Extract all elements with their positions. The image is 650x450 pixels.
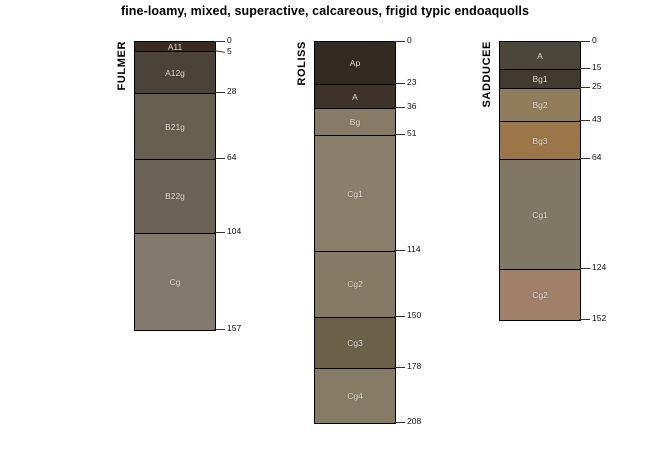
page-title: fine-loamy, mixed, superactive, calcareo…: [0, 4, 650, 18]
horizon-label: Bg2: [532, 100, 547, 110]
horizon-roliss-cg3[interactable]: Cg3: [315, 317, 395, 368]
depth-tick-label: 25: [592, 81, 601, 91]
depth-tick-line: [394, 107, 405, 108]
soil-column-sadducee[interactable]: ABg1Bg2Bg3Cg1Cg2: [499, 41, 581, 321]
horizon-label: B21g: [165, 122, 185, 132]
depth-tick-line: [214, 92, 225, 93]
horizon-roliss-cg2[interactable]: Cg2: [315, 251, 395, 317]
horizon-sadducee-cg2[interactable]: Cg2: [500, 269, 580, 320]
column-label-roliss: ROLISS: [296, 41, 308, 86]
horizon-label: Bg3: [532, 136, 547, 146]
horizon-sadducee-bg3[interactable]: Bg3: [500, 121, 580, 159]
horizon-label: Cg: [170, 277, 181, 287]
depth-tick-label: 0: [592, 35, 597, 45]
horizon-label: Cg2: [347, 279, 363, 289]
depth-tick-label: 43: [592, 114, 601, 124]
horizon-sadducee-a[interactable]: A: [500, 42, 580, 69]
horizon-fulmer-a12g[interactable]: A12g: [135, 51, 215, 93]
depth-tick-line: [579, 268, 590, 269]
depth-tick-line: [579, 120, 590, 121]
depth-tick-line: [394, 316, 405, 317]
horizon-label: A11: [168, 42, 183, 52]
depth-tick-label: 51: [407, 128, 416, 138]
depth-tick-label: 15: [592, 62, 601, 72]
depth-tick-line: [394, 367, 405, 368]
horizon-fulmer-a11[interactable]: A11: [135, 42, 215, 51]
depth-tick-label: 157: [227, 323, 241, 333]
depth-tick-line: [579, 319, 590, 320]
horizon-roliss-cg4[interactable]: Cg4: [315, 368, 395, 423]
depth-tick-label: 124: [592, 262, 606, 272]
horizon-label: Cg3: [347, 338, 363, 348]
column-label-sadducee: SADDUCEE: [481, 41, 493, 108]
depth-tick-label: 0: [227, 35, 232, 45]
depth-tick-label: 28: [227, 86, 236, 96]
depth-tick-line: [394, 41, 405, 42]
depth-tick-line: [579, 41, 590, 42]
soil-column-roliss[interactable]: ApABgCg1Cg2Cg3Cg4: [314, 41, 396, 424]
horizon-roliss-cg1[interactable]: Cg1: [315, 135, 395, 250]
depth-tick-label: 64: [227, 152, 236, 162]
column-label-fulmer: FULMER: [116, 41, 128, 90]
horizon-label: Ap: [350, 58, 360, 68]
depth-tick-label: 152: [592, 313, 606, 323]
depth-tick-line: [394, 134, 405, 135]
depth-tick-label: 150: [407, 310, 421, 320]
horizon-fulmer-b22g[interactable]: B22g: [135, 159, 215, 232]
horizon-sadducee-bg2[interactable]: Bg2: [500, 88, 580, 121]
horizon-label: B22g: [165, 191, 185, 201]
depth-tick-label: 0: [407, 35, 412, 45]
horizon-label: A: [537, 51, 543, 61]
depth-tick-label: 5: [227, 46, 232, 56]
horizon-label: Cg1: [532, 210, 548, 220]
horizon-sadducee-cg1[interactable]: Cg1: [500, 159, 580, 269]
horizon-label: A: [352, 92, 358, 102]
horizon-roliss-a[interactable]: A: [315, 84, 395, 108]
depth-tick-line: [394, 422, 405, 423]
depth-tick-line: [394, 83, 405, 84]
horizon-label: Bg: [350, 117, 360, 127]
depth-tick-line: [579, 68, 590, 69]
horizon-fulmer-b21g[interactable]: B21g: [135, 93, 215, 159]
horizon-label: Cg2: [532, 290, 548, 300]
depth-tick-label: 114: [407, 244, 421, 254]
depth-tick-line: [214, 232, 225, 233]
horizon-label: A12g: [165, 68, 185, 78]
depth-tick-label: 64: [592, 152, 601, 162]
horizon-label: Cg4: [347, 391, 363, 401]
depth-tick-label: 36: [407, 101, 416, 111]
horizon-label: Bg1: [532, 74, 547, 84]
soil-column-fulmer[interactable]: A11A12gB21gB22gCg: [134, 41, 216, 331]
depth-tick-line: [579, 158, 590, 159]
depth-tick-label: 104: [227, 226, 241, 236]
horizon-label: Cg1: [347, 189, 363, 199]
depth-tick-line: [214, 158, 225, 159]
horizon-roliss-bg[interactable]: Bg: [315, 108, 395, 135]
depth-tick-label: 23: [407, 77, 416, 87]
horizon-sadducee-bg1[interactable]: Bg1: [500, 69, 580, 87]
depth-tick-label: 178: [407, 361, 421, 371]
depth-tick-line: [579, 87, 590, 88]
depth-tick-line: [214, 41, 225, 42]
depth-tick-label: 208: [407, 416, 421, 426]
horizon-roliss-ap[interactable]: Ap: [315, 42, 395, 84]
depth-tick-line: [214, 329, 225, 330]
depth-tick-line: [394, 250, 405, 251]
horizon-fulmer-cg[interactable]: Cg: [135, 233, 215, 330]
